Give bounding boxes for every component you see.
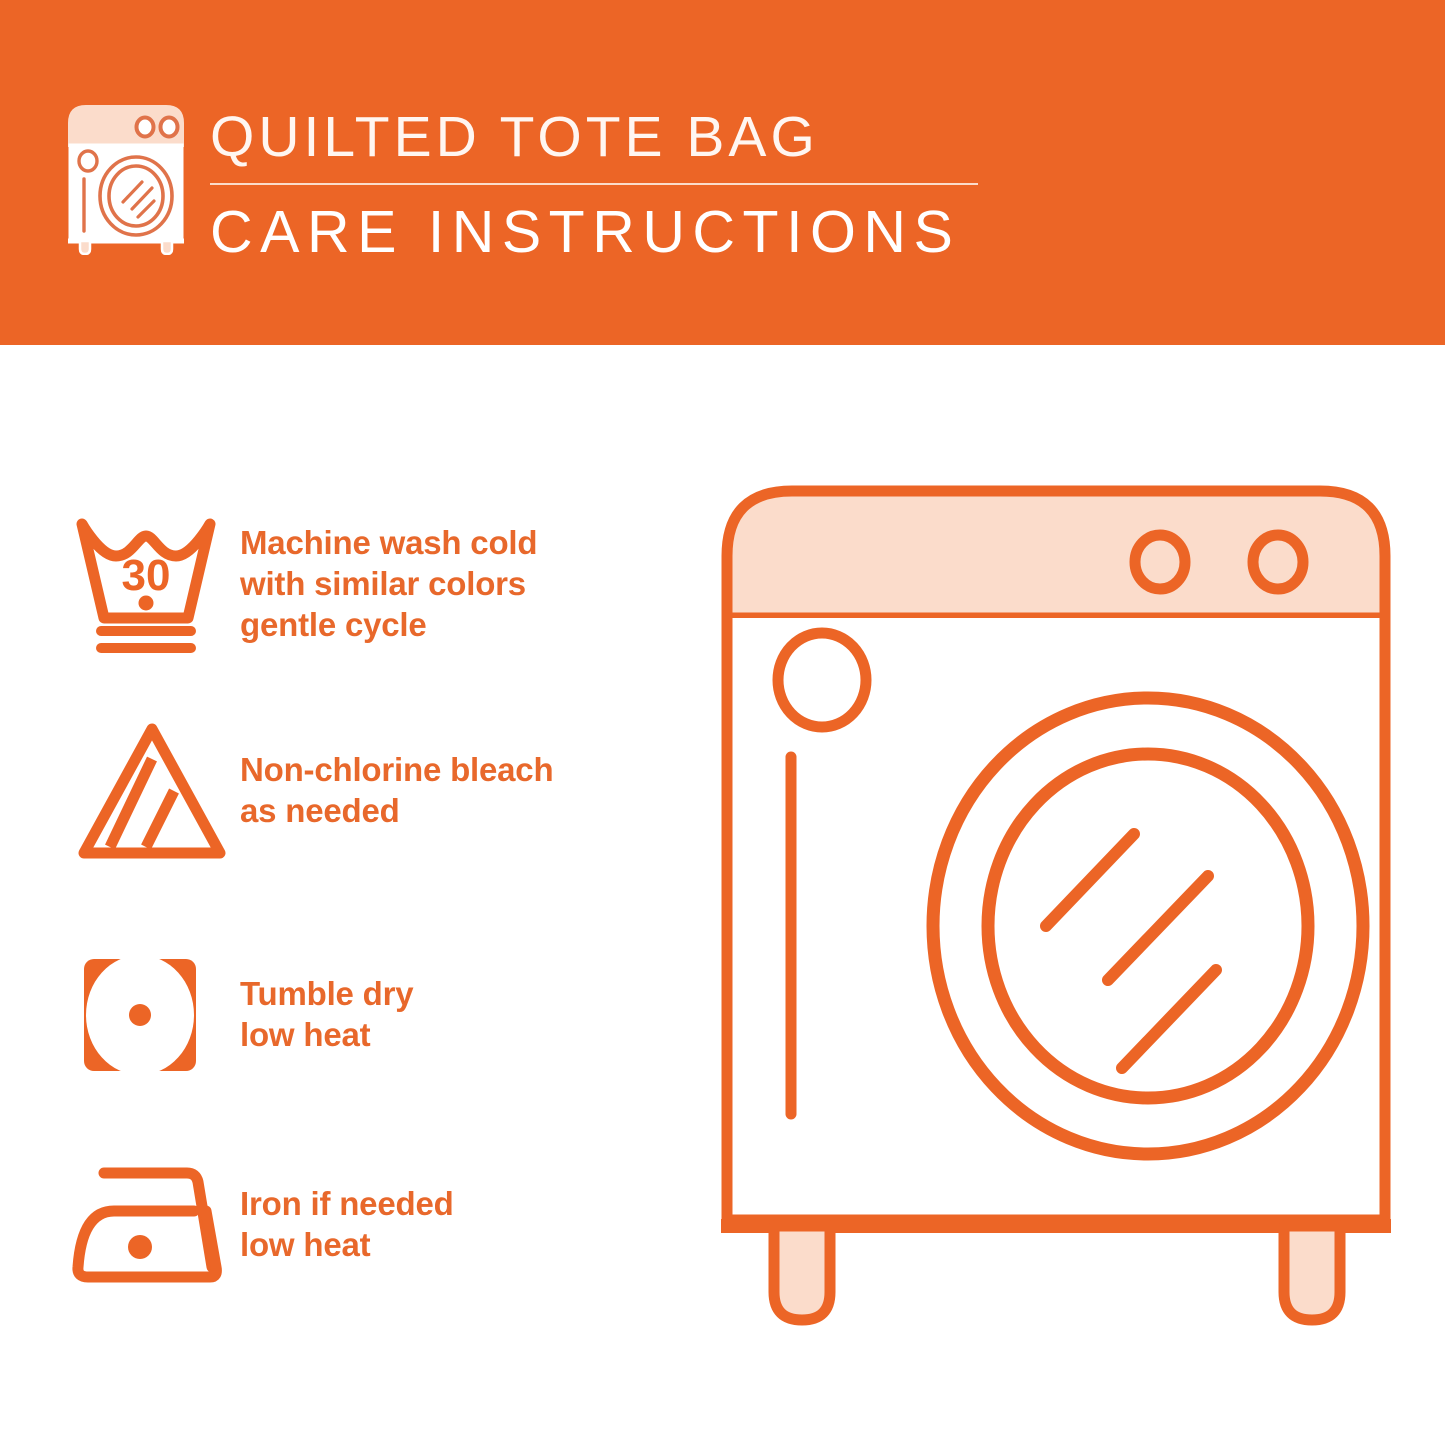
care-row-label-line3: gentle cycle [240,604,537,645]
care-row-tumble-dry: Tumble dry low heat [70,943,690,1091]
page-title: QUILTED TOTE BAG [210,104,990,170]
iron-icon [70,1155,240,1295]
page-subtitle: CARE INSTRUCTIONS [210,198,990,266]
care-row-label-line1: Tumble dry [240,973,413,1014]
header-divider [210,183,978,185]
care-row-label: Tumble dry low heat [240,943,413,1055]
care-row-label-line1: Machine wash cold [240,522,537,563]
svg-text:30: 30 [122,551,171,600]
care-row-label: Machine wash cold with similar colors ge… [240,510,537,645]
care-row-label: Iron if needed low heat [240,1155,454,1265]
machine-wash-tub-icon: 30 [70,510,240,660]
care-row-label-line1: Iron if needed [240,1183,454,1224]
care-row-iron: Iron if needed low heat [70,1155,690,1295]
tumble-dry-square-icon [70,943,240,1091]
care-row-bleach: Non-chlorine bleach as needed [70,717,690,867]
washing-machine-icon [66,103,186,255]
care-row-machine-wash: 30 Machine wash cold with similar colors… [70,510,690,660]
care-row-label-line2: as needed [240,790,553,831]
header-banner: QUILTED TOTE BAG CARE INSTRUCTIONS [0,0,1445,345]
care-instruction-list: 30 Machine wash cold with similar colors… [0,345,700,1445]
care-row-label-line2: with similar colors [240,563,537,604]
non-chlorine-bleach-triangle-icon [70,717,240,867]
care-row-label: Non-chlorine bleach as needed [240,717,553,831]
header-title-group: QUILTED TOTE BAG CARE INSTRUCTIONS [210,104,990,266]
care-row-label-line2: low heat [240,1224,454,1265]
front-load-washing-machine-illustration [716,480,1396,1370]
care-row-label-line1: Non-chlorine bleach [240,749,553,790]
care-row-label-line2: low heat [240,1014,413,1055]
